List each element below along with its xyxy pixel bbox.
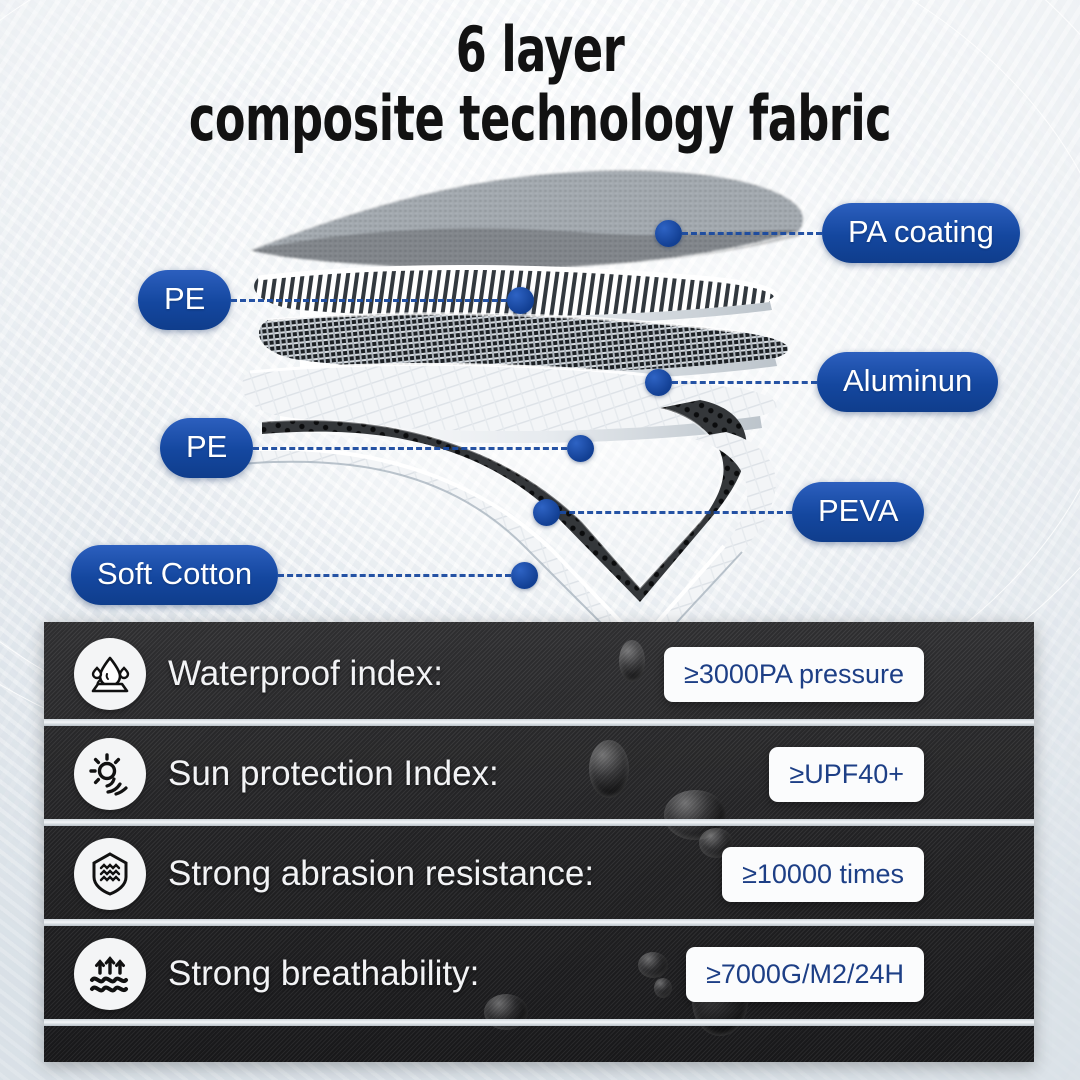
row-separator — [44, 1019, 1034, 1026]
callout-pa-coating[interactable]: PA coating — [655, 203, 1020, 263]
waterproof-drop-icon — [74, 638, 146, 710]
callout-dot — [533, 499, 560, 526]
feature-row-sun-protection[interactable]: Sun protection Index: ≥UPF40+ — [44, 734, 1034, 814]
callout-label[interactable]: PEVA — [792, 482, 924, 542]
callout-dot — [507, 287, 534, 314]
abrasion-shield-icon — [74, 838, 146, 910]
title-line-2: composite technology fabric — [108, 89, 972, 150]
callout-aluminium[interactable]: Aluminun — [645, 352, 998, 412]
callout-leader-line — [672, 381, 817, 384]
title-line-1: 6 layer — [108, 20, 972, 81]
feature-row-waterproof[interactable]: Waterproof index: ≥3000PA pressure — [44, 634, 1034, 714]
callout-label[interactable]: PA coating — [822, 203, 1020, 263]
row-separator — [44, 719, 1034, 726]
breathability-icon — [74, 938, 146, 1010]
callout-dot — [655, 220, 682, 247]
feature-label: Strong breathability: — [168, 954, 479, 994]
callout-label[interactable]: Aluminun — [817, 352, 998, 412]
feature-value-chip[interactable]: ≥3000PA pressure — [664, 647, 924, 702]
callout-label[interactable]: PE — [160, 418, 253, 478]
callout-label[interactable]: Soft Cotton — [71, 545, 278, 605]
feature-row-breathability[interactable]: Strong breathability: ≥7000G/M2/24H — [44, 934, 1034, 1014]
feature-label: Waterproof index: — [168, 654, 443, 694]
callout-dot — [567, 435, 594, 462]
infographic-canvas: 6 layer composite technology fabric — [0, 0, 1080, 1080]
feature-value-chip[interactable]: ≥7000G/M2/24H — [686, 947, 924, 1002]
callout-dot — [645, 369, 672, 396]
feature-panel: Waterproof index: ≥3000PA pressure — [44, 622, 1034, 1062]
page-title: 6 layer composite technology fabric — [0, 20, 1080, 150]
callout-dot — [511, 562, 538, 589]
feature-label: Strong abrasion resistance: — [168, 854, 594, 894]
feature-row-abrasion[interactable]: Strong abrasion resistance: ≥10000 times — [44, 834, 1034, 914]
feature-value-chip[interactable]: ≥10000 times — [722, 847, 924, 902]
callout-peva[interactable]: PEVA — [533, 482, 924, 542]
callout-pe-lower[interactable]: PE — [160, 418, 594, 478]
callout-pe-upper[interactable]: PE — [138, 270, 534, 330]
feature-value-chip[interactable]: ≥UPF40+ — [769, 747, 924, 802]
callout-leader-line — [560, 511, 792, 514]
callout-leader-line — [278, 574, 511, 577]
callout-soft-cotton[interactable]: Soft Cotton — [71, 545, 538, 605]
callout-leader-line — [231, 299, 507, 302]
row-separator — [44, 919, 1034, 926]
feature-label: Sun protection Index: — [168, 754, 499, 794]
row-separator — [44, 819, 1034, 826]
callout-label[interactable]: PE — [138, 270, 231, 330]
callout-leader-line — [253, 447, 567, 450]
callout-leader-line — [682, 232, 822, 235]
sun-protection-icon — [74, 738, 146, 810]
